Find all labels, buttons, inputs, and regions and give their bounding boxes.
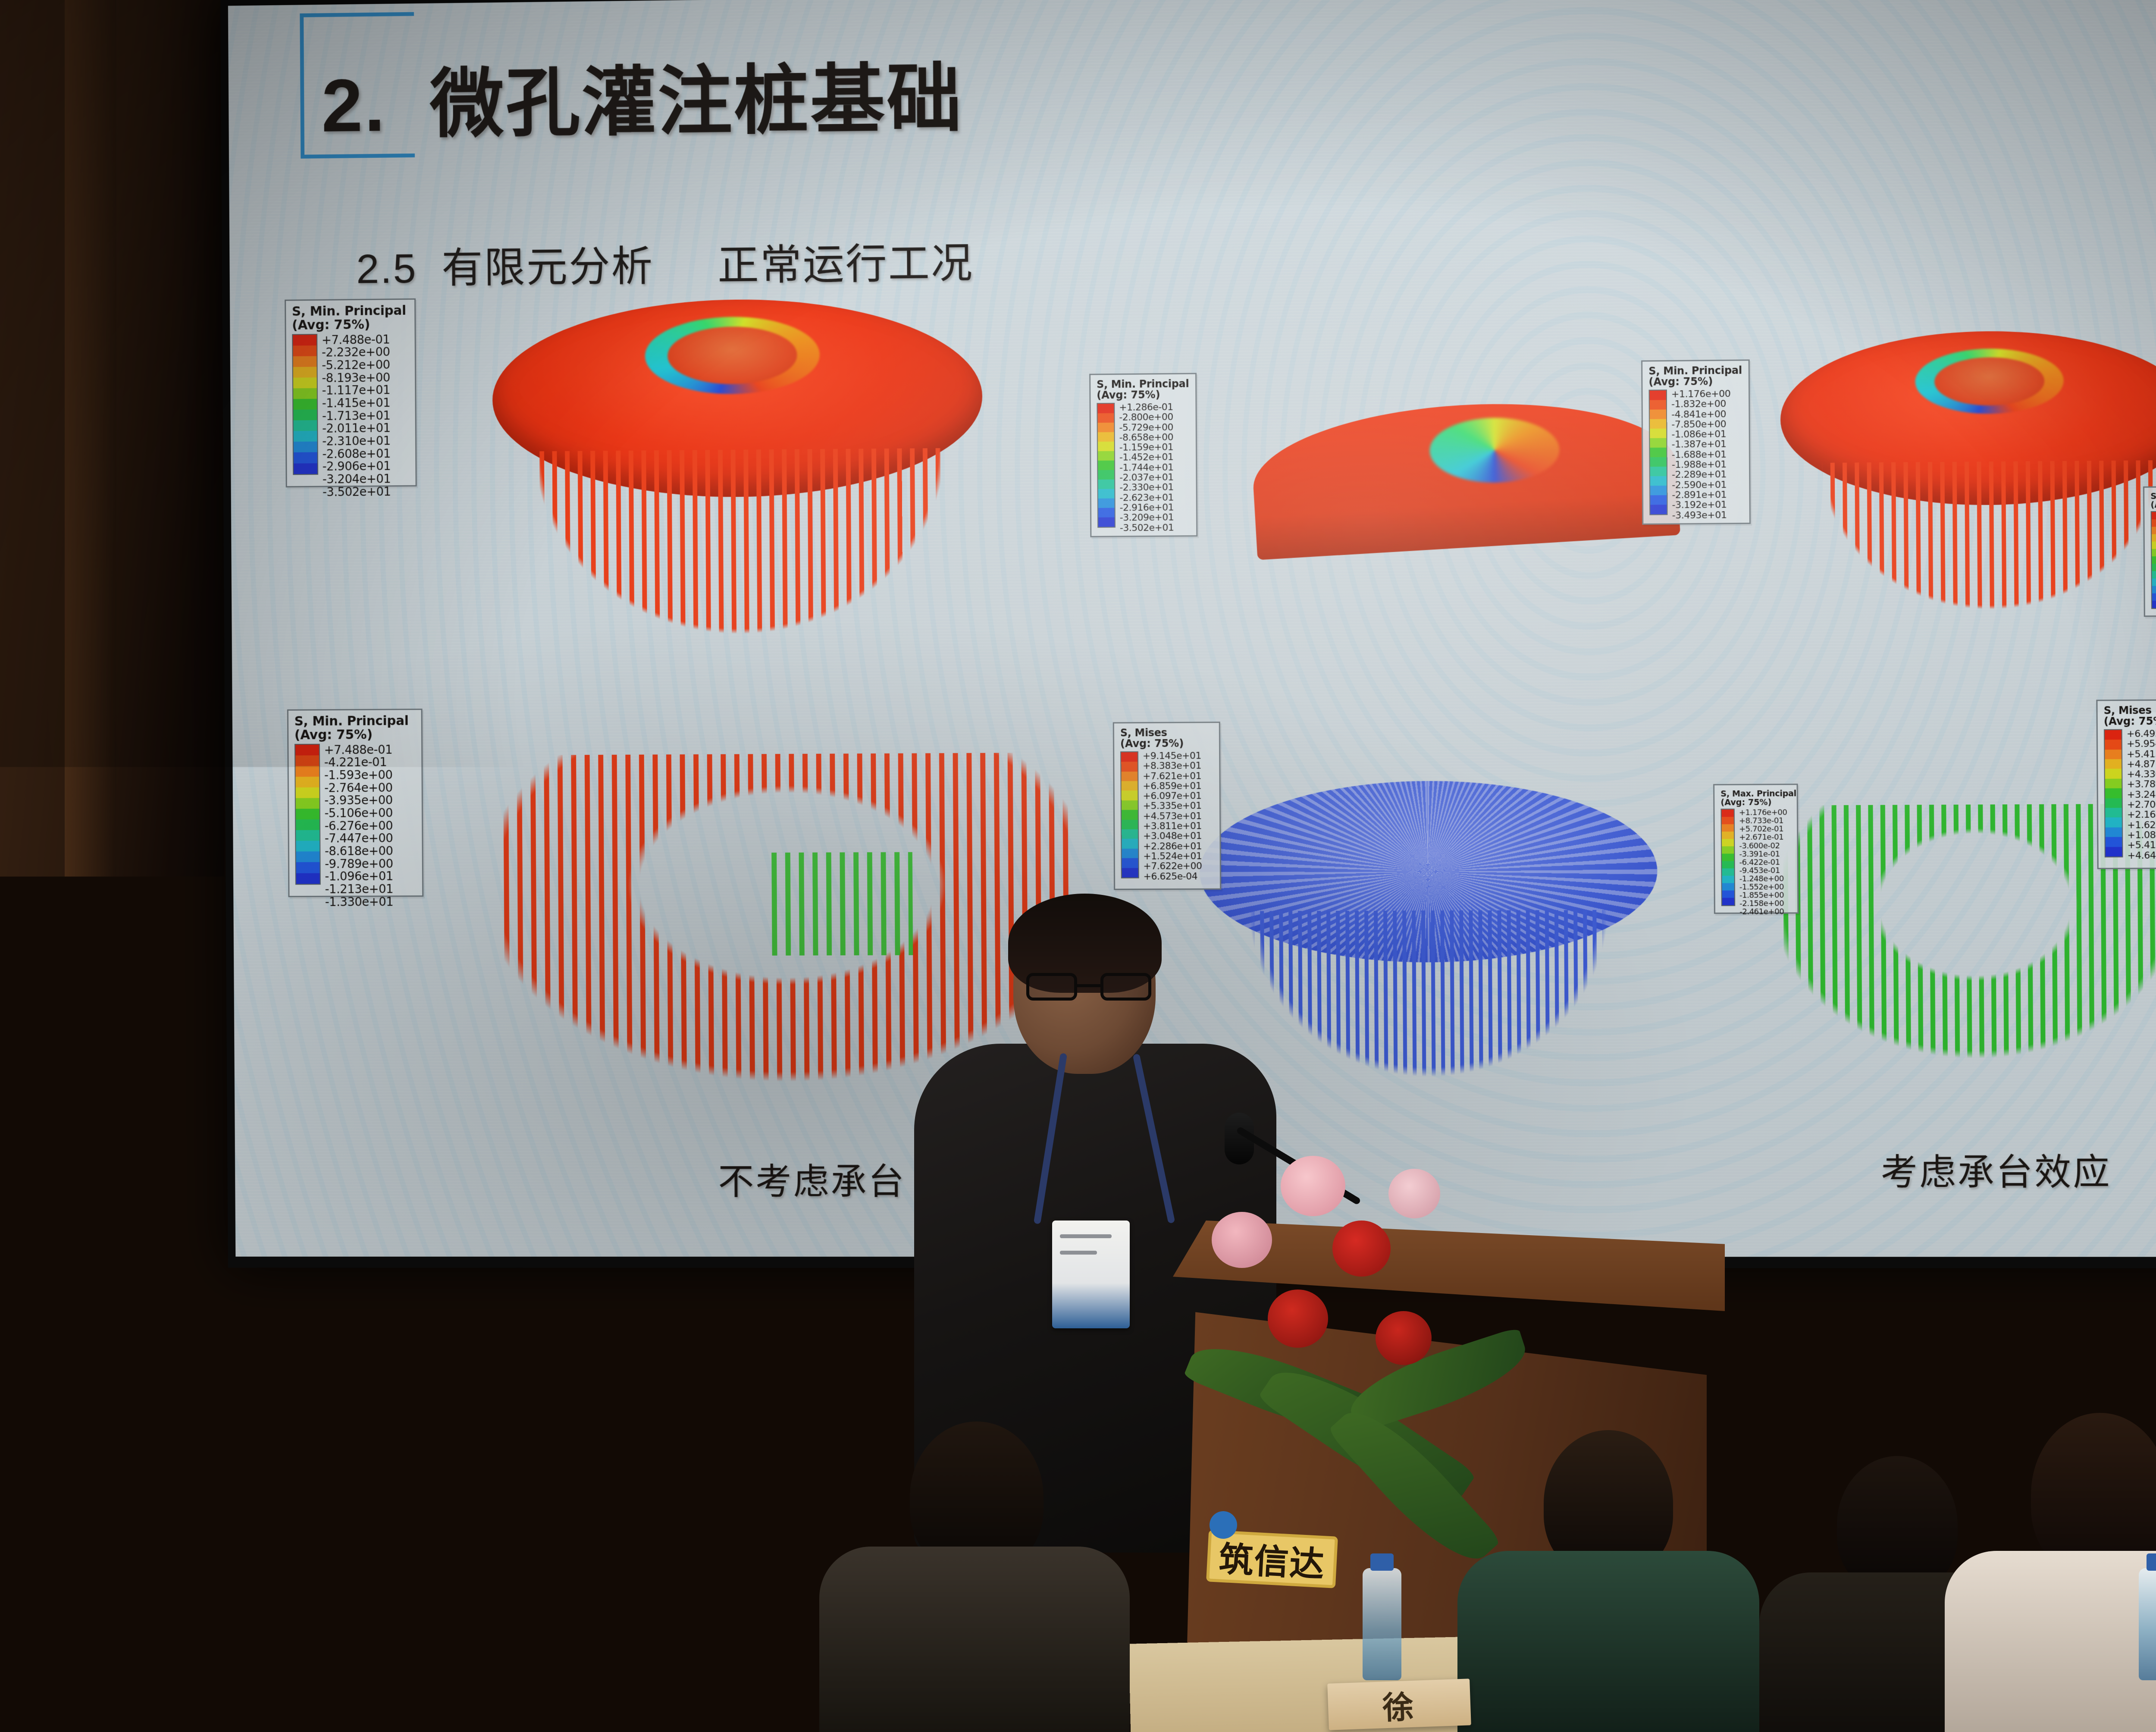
legend-colorbar bbox=[1097, 403, 1116, 528]
legend-value: -3.204e+01 bbox=[323, 473, 391, 486]
legend-value: -5.106e+00 bbox=[324, 806, 393, 819]
legend-values: +7.488e-01 -4.221e-01 -1.593e+00 -2.764e… bbox=[324, 743, 393, 885]
legend-value: -3.502e+01 bbox=[323, 485, 391, 499]
legend-value: -2.916e+01 bbox=[1120, 503, 1174, 513]
nameplate-left: 徐 bbox=[1327, 1679, 1471, 1730]
slide-subtitle-text: 有限元分析 bbox=[442, 242, 654, 291]
legend-value: +3.048e+01 bbox=[1143, 831, 1202, 842]
legend-value: -8.618e+00 bbox=[325, 845, 393, 858]
legend-value: +6.859e+01 bbox=[1143, 781, 1201, 791]
flower-pink bbox=[1212, 1212, 1272, 1268]
slide-subtitle: 2.5 有限元分析 正常运行工况 bbox=[356, 229, 974, 295]
legend-subtitle: (Avg: 75%) bbox=[1648, 376, 1743, 388]
legend-value: -1.593e+00 bbox=[324, 769, 393, 781]
legend-subtitle: (Avg: 75%) bbox=[1097, 389, 1190, 401]
legend-value: +8.733e-01 bbox=[1739, 817, 1787, 825]
legend-value: +2.165e+01 bbox=[2127, 810, 2156, 820]
legend-value: +6.625e-04 bbox=[1144, 872, 1202, 882]
legend-value: +2.706e+01 bbox=[2127, 800, 2156, 810]
legend-value: -2.330e+01 bbox=[1119, 483, 1173, 493]
legend-value: -1.415e+01 bbox=[322, 396, 391, 410]
flower-red bbox=[1332, 1221, 1391, 1277]
fem-stress-ring-left bbox=[645, 316, 820, 395]
legend-value: +1.176e+00 bbox=[1739, 809, 1787, 817]
legend-value: -2.623e+01 bbox=[1119, 493, 1173, 503]
palm-leaf bbox=[1342, 1327, 1534, 1433]
legend-value: -8.193e+00 bbox=[322, 371, 390, 384]
legend-title: S, Min. Principal bbox=[292, 304, 410, 319]
legend-subtitle: (Avg: 75%) bbox=[1720, 798, 1791, 807]
legend-value: +1.286e-01 bbox=[1119, 402, 1173, 413]
legend-values: +6.495e+01 +5.954e+01 +5.413e+01 +4.871e… bbox=[2127, 729, 2156, 857]
legend-subtitle: (Avg: 75%) bbox=[295, 728, 416, 742]
legend-value: -1.832e+00 bbox=[1671, 399, 1730, 410]
audience-member bbox=[819, 1421, 1130, 1732]
legend-value: +2.671e-01 bbox=[1739, 833, 1787, 842]
audience-shoulders bbox=[267, 1555, 543, 1732]
legend-value: +6.097e+01 bbox=[1143, 791, 1201, 801]
legend-colorbar bbox=[2104, 729, 2123, 857]
legend-value: -1.213e+01 bbox=[325, 883, 394, 896]
legend-value: +8.383e+01 bbox=[1143, 761, 1201, 772]
legend-right-half: S, Min. Principal (Avg: 75%) +1.135e-01 … bbox=[2143, 486, 2156, 617]
wall-left-band bbox=[65, 0, 116, 1466]
wall-left bbox=[0, 0, 224, 1466]
legend-value: +7.622e+00 bbox=[1143, 861, 1202, 872]
legend-values: +1.176e+00 +8.733e-01 +5.702e-01 +2.671e… bbox=[1739, 809, 1788, 906]
presenter-glasses bbox=[1026, 973, 1151, 1001]
legend-value: -2.011e+01 bbox=[322, 422, 391, 435]
legend-colorbar bbox=[1649, 389, 1668, 515]
water-bottle bbox=[43, 1568, 82, 1680]
legend-value: -7.447e+00 bbox=[325, 832, 393, 845]
legend-value: +3.248e+01 bbox=[2127, 790, 2156, 800]
legend-value: +3.811e+01 bbox=[1143, 821, 1202, 831]
legend-value: -1.688e+01 bbox=[1672, 449, 1731, 460]
slide-subtitle-condition: 正常运行工况 bbox=[718, 239, 974, 289]
water-bottle bbox=[2139, 1568, 2156, 1680]
legend-colorbar bbox=[292, 334, 318, 475]
slide-title: 2. 微孔灌注桩基础 bbox=[321, 38, 964, 153]
legend-title: S, Mises bbox=[2104, 705, 2156, 716]
water-bottle bbox=[1363, 1568, 1401, 1680]
legend-value: -2.461e+00 bbox=[1739, 908, 1788, 916]
legend-value: -2.310e+01 bbox=[322, 434, 391, 448]
audience-member bbox=[1945, 1413, 2156, 1732]
legend-value: -3.391e-01 bbox=[1739, 850, 1787, 858]
legend-title: S, Max. Principal bbox=[1720, 789, 1791, 798]
audience-shoulders bbox=[1945, 1551, 2156, 1732]
legend-value: +2.286e+01 bbox=[1143, 841, 1202, 852]
legend-value: -1.159e+01 bbox=[1119, 442, 1173, 453]
legend-value: -2.158e+00 bbox=[1739, 899, 1788, 908]
legend-value: -5.212e+00 bbox=[322, 358, 390, 372]
legend-value: +1.083e+01 bbox=[2127, 830, 2156, 841]
legend-bottom-max-principal: S, Max. Principal (Avg: 75%) +1.176e+00 … bbox=[1713, 784, 1799, 914]
legend-value: -3.209e+01 bbox=[1120, 513, 1174, 523]
legend-value: +1.176e+00 bbox=[1671, 389, 1730, 400]
legend-value: -2.037e+01 bbox=[1119, 473, 1173, 483]
legend-colorbar bbox=[1120, 751, 1139, 879]
presenter-badge bbox=[1052, 1221, 1130, 1328]
legend-value: +4.871e+01 bbox=[2127, 759, 2156, 769]
legend-colorbar bbox=[1721, 809, 1736, 906]
legend-value: +5.335e+01 bbox=[1143, 801, 1202, 812]
fem-ring-inner-right bbox=[1934, 357, 2044, 406]
legend-value: -1.117e+01 bbox=[322, 384, 391, 397]
fem-pile-group-right bbox=[1794, 460, 2156, 662]
legend-value: -7.850e+00 bbox=[1671, 419, 1730, 430]
legend-value: -3.192e+01 bbox=[1672, 500, 1731, 510]
presenter-lanyard bbox=[1039, 1052, 1169, 1233]
legend-value: -1.855e+00 bbox=[1739, 891, 1788, 900]
legend-value: -6.276e+00 bbox=[325, 819, 393, 832]
flower-red bbox=[1376, 1311, 1432, 1365]
legend-colorbar bbox=[295, 744, 321, 885]
legend-value: -1.713e+01 bbox=[322, 409, 391, 423]
fem-ring-inner-left bbox=[667, 326, 797, 385]
legend-value: +5.413e+00 bbox=[2127, 840, 2156, 850]
legend-values: +7.488e-01 -2.232e+00 -5.212e+00 -8.193e… bbox=[322, 333, 391, 474]
legend-value: +7.488e-01 bbox=[324, 743, 393, 756]
caption-without-cap: 不考虑承台 bbox=[718, 1153, 906, 1205]
legend-values: +9.145e+01 +8.383e+01 +7.621e+01 +6.859e… bbox=[1143, 751, 1202, 878]
legend-title: S, Min. Principal bbox=[295, 714, 416, 728]
legend-title: S, Min. Principal bbox=[1648, 365, 1743, 377]
legend-value: -8.658e+00 bbox=[1119, 433, 1173, 443]
audience-shoulders bbox=[1457, 1551, 1759, 1732]
legend-value: +5.954e+01 bbox=[2127, 739, 2156, 749]
legend-bottom-mises-right: S, Mises (Avg: 75%) +6.495e+01 +5.954e+0… bbox=[2096, 699, 2156, 869]
conference-room-scene: 2. 微孔灌注桩基础 2.5 有限元分析 正常运行工况 bbox=[0, 0, 2156, 1732]
legend-top-mid: S, Min. Principal (Avg: 75%) +1.286e-01 … bbox=[1089, 373, 1197, 537]
legend-value: -2.891e+01 bbox=[1672, 490, 1731, 500]
legend-value: -1.086e+01 bbox=[1671, 430, 1730, 440]
legend-value: -9.789e+00 bbox=[325, 857, 393, 870]
legend-value: +1.524e+01 bbox=[1143, 851, 1202, 862]
caption-with-cap: 考虑承台效应 bbox=[1880, 1143, 2111, 1195]
legend-title: S, Min. Principal bbox=[2150, 492, 2156, 501]
fem-model-half-section-middle bbox=[1253, 369, 1686, 579]
legend-bottom-left: S, Min. Principal (Avg: 75%) +7.488e-01 … bbox=[287, 709, 423, 897]
legend-top-right: S, Min. Principal (Avg: 75%) +1.176e+00 … bbox=[1641, 359, 1751, 524]
legend-value: -1.988e+01 bbox=[1672, 460, 1731, 470]
legend-value: +4.648e-04 bbox=[2128, 850, 2156, 861]
legend-value: -3.502e+01 bbox=[1120, 523, 1174, 533]
legend-value: -3.493e+01 bbox=[1672, 510, 1731, 521]
legend-title: S, Min. Principal bbox=[1097, 379, 1190, 390]
legend-value: -6.422e-01 bbox=[1739, 858, 1788, 867]
legend-value: -2.800e+00 bbox=[1119, 412, 1173, 423]
legend-value: -4.221e-01 bbox=[324, 756, 393, 769]
legend-values: +1.176e+00 -1.832e+00 -4.841e+00 -7.850e… bbox=[1671, 389, 1731, 515]
legend-value: +1.624e+01 bbox=[2127, 820, 2156, 830]
fem-pile-cage-green-zone bbox=[771, 852, 913, 956]
flower-red bbox=[1268, 1290, 1328, 1348]
audience-member bbox=[1457, 1430, 1759, 1732]
legend-value: -1.330e+01 bbox=[325, 895, 394, 908]
legend-value: -5.729e+00 bbox=[1119, 422, 1173, 433]
legend-value: -9.453e-01 bbox=[1739, 866, 1788, 875]
legend-value: -1.248e+00 bbox=[1739, 875, 1788, 883]
legend-value: -2.232e+00 bbox=[322, 346, 390, 359]
legend-value: -3.935e+00 bbox=[324, 794, 393, 807]
fem-model-cap-piles-left bbox=[450, 297, 1049, 816]
legend-subtitle: (Avg: 75%) bbox=[2104, 716, 2156, 728]
legend-bottom-mises-left: S, Mises (Avg: 75%) +9.145e+01 +8.383e+0… bbox=[1113, 722, 1221, 890]
legend-subtitle: (Avg: 75%) bbox=[2150, 500, 2156, 510]
audience-member bbox=[267, 1439, 543, 1732]
legend-value: -1.552e+00 bbox=[1739, 883, 1788, 891]
legend-subtitle: (Avg: 75%) bbox=[292, 317, 410, 332]
fem-pile-group-left bbox=[501, 448, 980, 700]
legend-value: +6.495e+01 bbox=[2127, 729, 2156, 739]
legend-value: -1.387e+01 bbox=[1672, 439, 1731, 450]
legend-value: -1.452e+01 bbox=[1119, 452, 1173, 463]
audience-shoulders bbox=[819, 1547, 1130, 1732]
legend-value: -2.764e+00 bbox=[324, 781, 393, 794]
fem-stress-ring-right bbox=[1915, 348, 2064, 414]
legend-value: -2.289e+01 bbox=[1672, 470, 1731, 480]
slide-section-number: 2. bbox=[321, 64, 387, 148]
legend-top-left: S, Min. Principal (Avg: 75%) +7.488e-01 … bbox=[285, 298, 417, 487]
legend-value: +3.789e+01 bbox=[2127, 779, 2156, 790]
legend-value: +4.330e+01 bbox=[2127, 769, 2156, 780]
flower-pink bbox=[1388, 1169, 1440, 1218]
legend-value: -2.608e+01 bbox=[322, 447, 391, 461]
legend-value: +5.413e+01 bbox=[2127, 749, 2156, 759]
legend-value: +5.702e-01 bbox=[1739, 825, 1787, 834]
slide-title-text: 微孔灌注桩基础 bbox=[430, 57, 964, 147]
legend-subtitle: (Avg: 75%) bbox=[1120, 738, 1214, 750]
legend-value: -2.590e+01 bbox=[1672, 480, 1731, 490]
legend-value: -2.906e+01 bbox=[323, 460, 391, 473]
legend-value: +4.573e+01 bbox=[1143, 811, 1202, 822]
legend-values: +1.286e-01 -2.800e+00 -5.729e+00 -8.658e… bbox=[1119, 402, 1174, 527]
flower-pink bbox=[1281, 1156, 1345, 1216]
legend-value: -4.841e+00 bbox=[1671, 409, 1730, 420]
legend-value: -1.744e+01 bbox=[1119, 462, 1173, 473]
legend-value: -1.096e+01 bbox=[325, 870, 393, 883]
legend-title: S, Mises bbox=[1120, 727, 1214, 738]
legend-value: +7.488e-01 bbox=[322, 333, 390, 346]
slide-subtitle-number: 2.5 bbox=[356, 245, 417, 292]
legend-value: +7.621e+01 bbox=[1143, 771, 1201, 781]
legend-colorbar bbox=[2151, 511, 2156, 609]
legend-value: +9.145e+01 bbox=[1143, 751, 1201, 761]
legend-value: -3.600e-02 bbox=[1739, 841, 1787, 850]
